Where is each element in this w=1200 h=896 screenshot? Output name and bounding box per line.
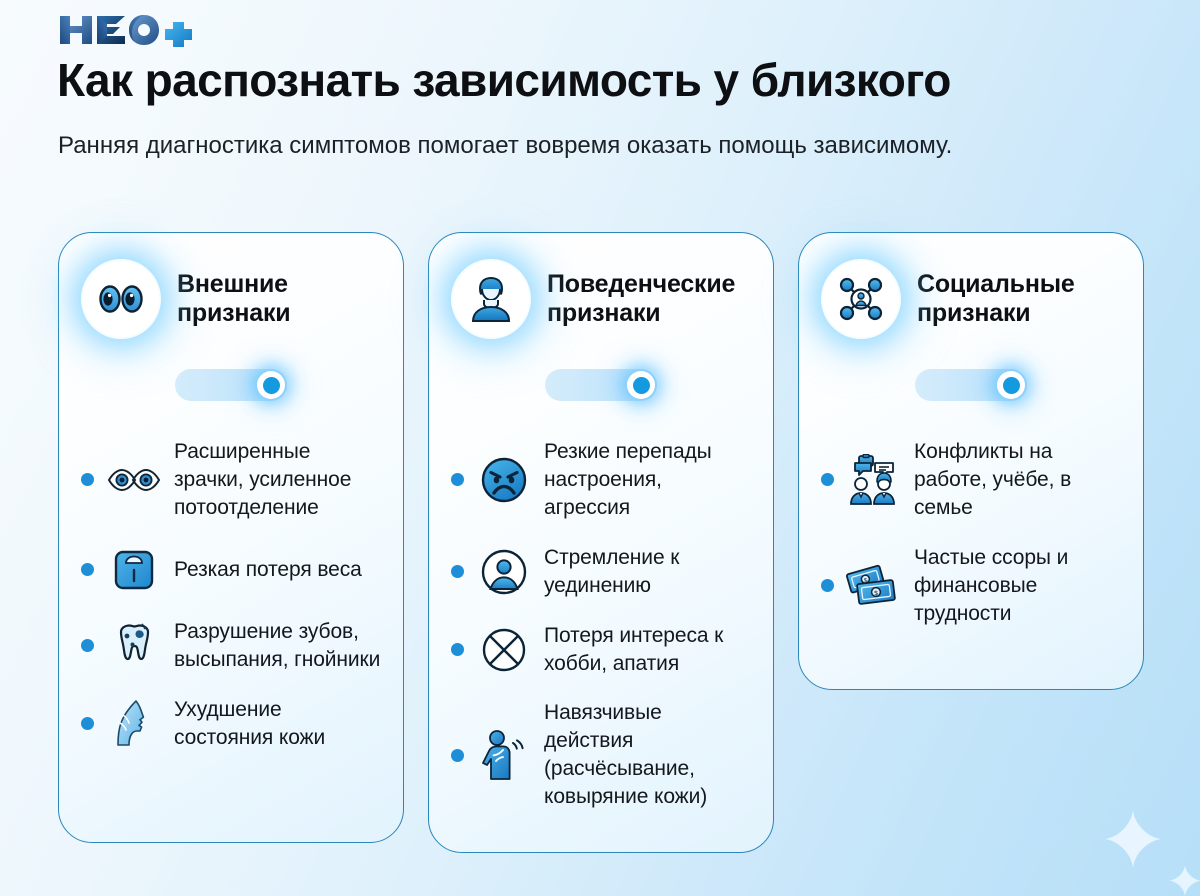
toggle-behavioral-signs[interactable] <box>545 369 657 401</box>
list-item-text: Ухудшение состояния кожи <box>174 696 381 752</box>
list-item-text: Навязчивые действия (расчёсывание, ковыр… <box>544 699 751 811</box>
card-social-signs[interactable]: Социальные признаки <box>798 232 1144 690</box>
toggle-external-signs-wrap <box>81 369 381 401</box>
list-item[interactable]: Разрушение зубов, высыпания, гнойники <box>81 607 381 685</box>
list-item-text: Потеря интереса к хобби, апатия <box>544 622 751 678</box>
signs-list: Резкие перепады настроения, агрессия <box>451 427 751 822</box>
bullet-dot <box>451 565 464 578</box>
card-title: Социальные признаки <box>917 270 1121 329</box>
signs-list: Расширенные зрачки, усиленное потоотделе… <box>81 427 381 762</box>
page-subtitle: Ранняя диагностика симптомов помогает во… <box>58 128 958 164</box>
list-item[interactable]: Навязчивые действия (расчёсывание, ковыр… <box>451 688 751 822</box>
toggle-external-signs[interactable] <box>175 369 287 401</box>
angry-face-icon <box>476 454 532 506</box>
toggle-knob <box>257 371 285 399</box>
card-header: Внешние признаки <box>81 259 381 339</box>
list-item-text: Конфликты на работе, учёбе, в семье <box>914 438 1121 522</box>
toggle-knob <box>627 371 655 399</box>
person-circle-icon <box>476 546 532 598</box>
list-item[interactable]: Расширенные зрачки, усиленное потоотделе… <box>81 427 381 533</box>
bullet-dot <box>821 579 834 592</box>
bullet-dot <box>821 473 834 486</box>
person-avatar-icon <box>453 261 529 337</box>
list-item-text: Резкая потеря веса <box>174 556 362 584</box>
toggle-social-signs[interactable] <box>915 369 1027 401</box>
list-item-text: Частые ссоры и финансовые трудности <box>914 544 1121 628</box>
sparkle-bottom-right-small <box>1168 864 1200 896</box>
bullet-dot <box>81 473 94 486</box>
card-title: Внешние признаки <box>177 270 381 329</box>
network-hub-icon <box>823 261 899 337</box>
weight-scale-icon <box>106 544 162 596</box>
brand-logo <box>58 10 208 50</box>
bullet-dot <box>451 749 464 762</box>
list-item-text: Разрушение зубов, высыпания, гнойники <box>174 618 381 674</box>
bullet-dot <box>451 643 464 656</box>
colleagues-chat-icon <box>846 454 902 506</box>
card-header: Поведенческие признаки <box>451 259 751 339</box>
bullet-dot <box>81 639 94 652</box>
scratching-person-icon <box>476 729 532 781</box>
list-item-text: Стремление к уединению <box>544 544 751 600</box>
list-item-text: Резкие перепады настроения, агрессия <box>544 438 751 522</box>
list-item[interactable]: Резкие перепады настроения, агрессия <box>451 427 751 533</box>
tooth-decay-icon <box>106 620 162 672</box>
list-item[interactable]: Потеря интереса к хобби, апатия <box>451 611 751 689</box>
bullet-dot <box>81 717 94 730</box>
signs-list: Конфликты на работе, учёбе, в семье <box>821 427 1121 639</box>
eyes-icon <box>83 261 159 337</box>
toggle-social-signs-wrap <box>821 369 1121 401</box>
list-item[interactable]: $ $ Частые ссоры и финансовые трудности <box>821 533 1121 639</box>
card-title: Поведенческие признаки <box>547 270 751 329</box>
toggle-knob <box>997 371 1025 399</box>
list-item[interactable]: Конфликты на работе, учёбе, в семье <box>821 427 1121 533</box>
bullet-dot <box>81 563 94 576</box>
toggle-behavioral-signs-wrap <box>451 369 751 401</box>
list-item-text: Расширенные зрачки, усиленное потоотделе… <box>174 438 381 522</box>
crossed-circle-icon <box>476 624 532 676</box>
page-title: Как распознать зависимость у близкого <box>57 55 1157 107</box>
list-item[interactable]: Резкая потеря веса <box>81 533 381 607</box>
card-external-signs[interactable]: Внешние признаки <box>58 232 404 843</box>
list-item[interactable]: Стремление к уединению <box>451 533 751 611</box>
face-profile-icon <box>106 698 162 750</box>
pupils-eyes-icon <box>106 454 162 506</box>
money-bills-icon: $ $ <box>846 560 902 612</box>
card-header: Социальные признаки <box>821 259 1121 339</box>
bullet-dot <box>451 473 464 486</box>
list-item[interactable]: Ухудшение состояния кожи <box>81 685 381 763</box>
signs-cards-row: Внешние признаки <box>58 232 1144 853</box>
card-behavioral-signs[interactable]: Поведенческие признаки <box>428 232 774 853</box>
